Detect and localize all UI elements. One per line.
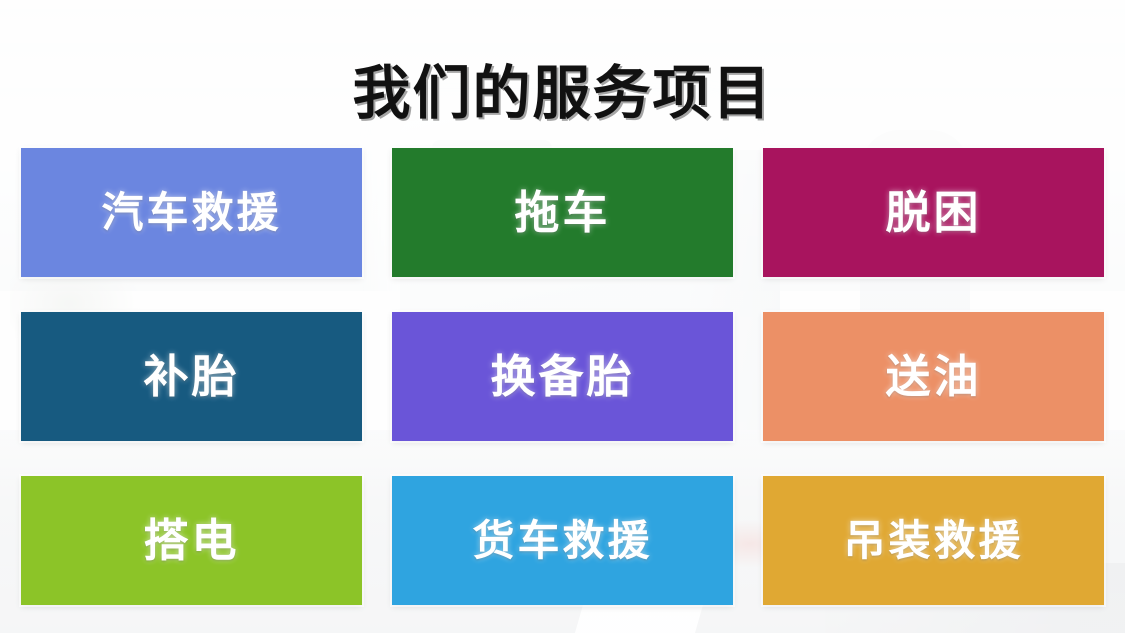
service-tile[interactable]: 换备胎 [392,312,733,441]
service-tile[interactable]: 搭电 [21,476,362,605]
service-tile-label: 汽车救援 [101,192,281,234]
service-tile-label: 吊装救援 [843,520,1023,562]
service-poster: 我们的服务项目 汽车救援拖车脱困补胎换备胎送油搭电货车救援吊装救援 [0,0,1125,633]
service-tile-label: 拖车 [514,190,610,235]
service-tile[interactable]: 汽车救援 [21,148,362,277]
page-title: 我们的服务项目 [0,62,1125,125]
service-tile[interactable]: 吊装救援 [763,476,1104,605]
service-tile[interactable]: 拖车 [392,148,733,277]
service-tile-grid: 汽车救援拖车脱困补胎换备胎送油搭电货车救援吊装救援 [21,148,1104,605]
service-tile-label: 脱困 [885,190,981,235]
service-tile-label: 货车救援 [472,520,652,562]
service-tile-label: 换备胎 [490,354,634,399]
service-tile-label: 搭电 [143,518,239,563]
service-tile-label: 送油 [885,354,981,399]
service-tile[interactable]: 送油 [763,312,1104,441]
service-tile[interactable]: 脱困 [763,148,1104,277]
poster-content: 我们的服务项目 汽车救援拖车脱困补胎换备胎送油搭电货车救援吊装救援 [0,0,1125,633]
service-tile[interactable]: 货车救援 [392,476,733,605]
service-tile[interactable]: 补胎 [21,312,362,441]
service-tile-label: 补胎 [143,354,239,399]
